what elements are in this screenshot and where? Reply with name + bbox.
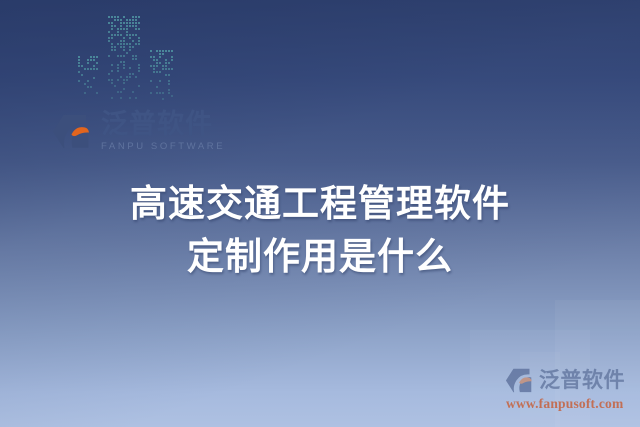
brand-name-en: FANPU SOFTWARE [101,141,225,152]
page-title: 高速交通工程管理软件 定制作用是什么 [0,178,640,283]
promo-banner: 泛普软件 FANPU SOFTWARE 高速交通工程管理软件 定制作用是什么 泛… [0,0,640,427]
brand-wordmark: 泛普软件 FANPU SOFTWARE [101,110,225,153]
page-title-line-2: 定制作用是什么 [0,231,640,284]
fanpu-hexagon-mark-icon [505,368,534,393]
brand-name-cn: 泛普软件 [101,110,225,139]
fanpu-hexagon-mark-icon [52,114,92,149]
pixel-building-skyline-icon [78,12,178,100]
watermark-brand-name: 泛普软件 [539,370,625,391]
watermark-logo-row: 泛普软件 [505,368,625,393]
watermark: 泛普软件 www.fanpusoft.com [505,368,625,412]
brand-logo: 泛普软件 FANPU SOFTWARE [52,110,225,153]
watermark-url: www.fanpusoft.com [506,396,623,412]
page-title-line-1: 高速交通工程管理软件 [0,178,640,231]
